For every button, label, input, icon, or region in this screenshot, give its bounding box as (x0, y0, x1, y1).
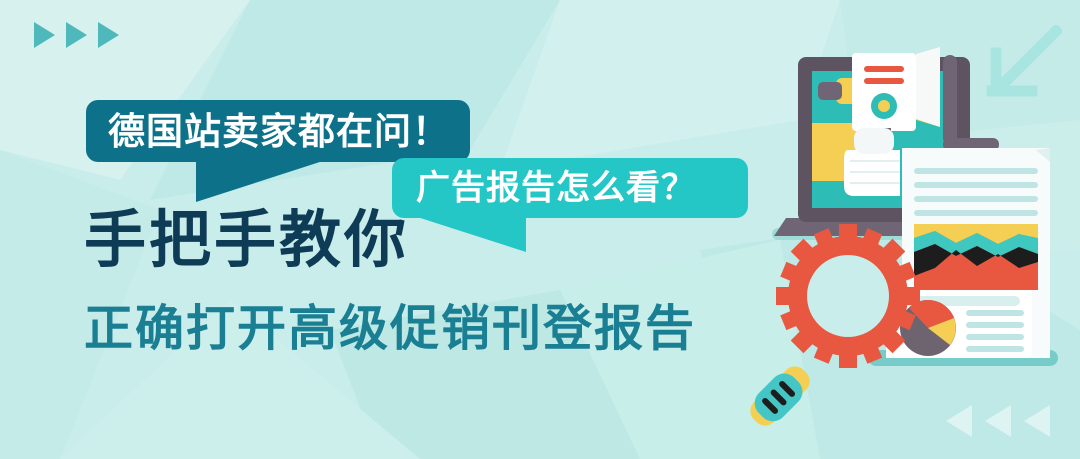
headline-block: 手把手教你 正确打开高级促销刊登报告 (84, 208, 696, 360)
speech-bubble-1-tail (196, 160, 326, 202)
play-triangle-icon (66, 22, 87, 48)
triangle-cluster-top-left (34, 22, 119, 48)
headline-main-text: 手把手教你 (84, 208, 696, 273)
illustration-group (750, 0, 1080, 459)
speech-bubble-question-1: 德国站卖家都在问！ (86, 100, 470, 162)
area-chart (914, 224, 1038, 290)
play-triangle-icon (98, 22, 119, 48)
speech-bubble-1-text: 德国站卖家都在问！ (108, 113, 450, 150)
promo-banner: 德国站卖家都在问！ 广告报告怎么看？ 手把手教你 正确打开高级促销刊登报告 (0, 0, 1080, 459)
headline-sub-text: 正确打开高级促销刊登报告 (84, 289, 696, 360)
play-triangle-icon (34, 22, 55, 48)
speech-bubble-2-text: 广告报告怎么看？ (416, 171, 696, 205)
